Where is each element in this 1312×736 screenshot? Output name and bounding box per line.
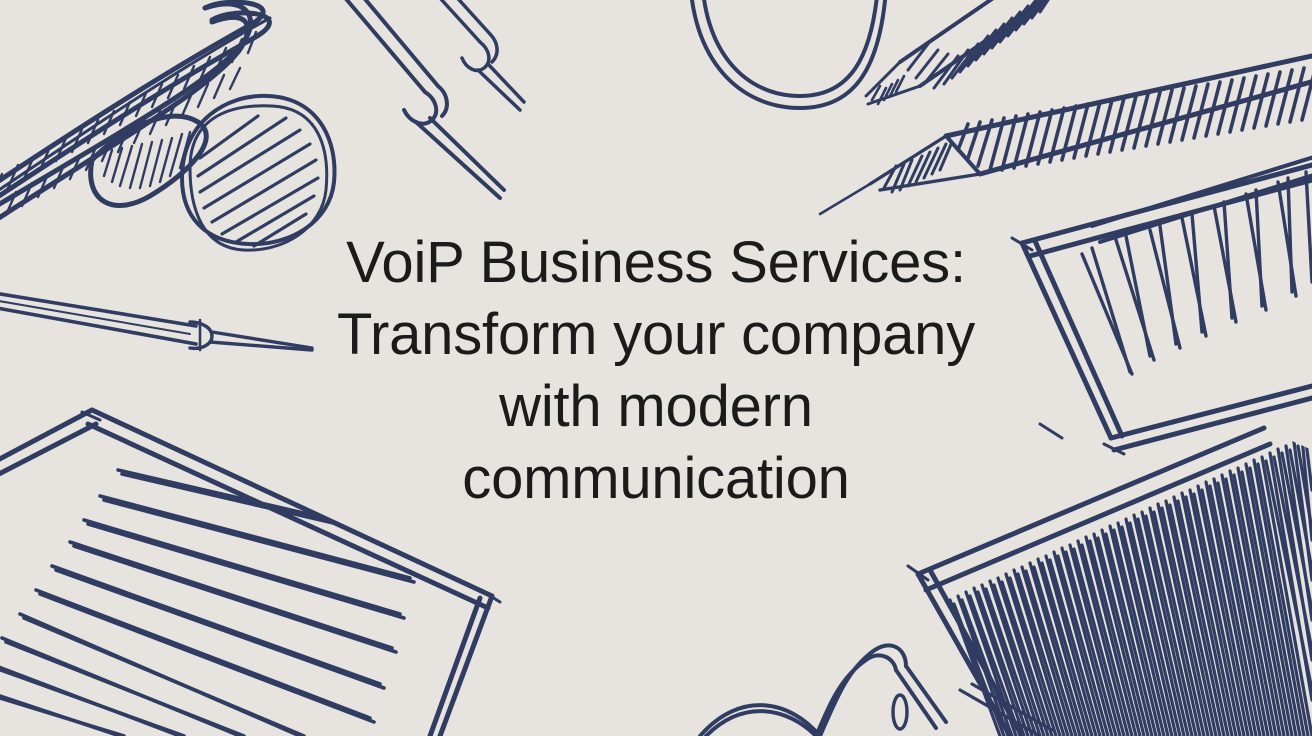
- slide-canvas: VoiP Business Services: Transform your c…: [0, 0, 1312, 736]
- title-line-3: with modern: [499, 371, 813, 443]
- title-line-2: Transform your company: [337, 299, 975, 371]
- title-line-4: communication: [462, 443, 849, 515]
- title-line-1: VoiP Business Services:: [346, 227, 966, 299]
- slide-title-block: VoiP Business Services: Transform your c…: [0, 0, 1312, 736]
